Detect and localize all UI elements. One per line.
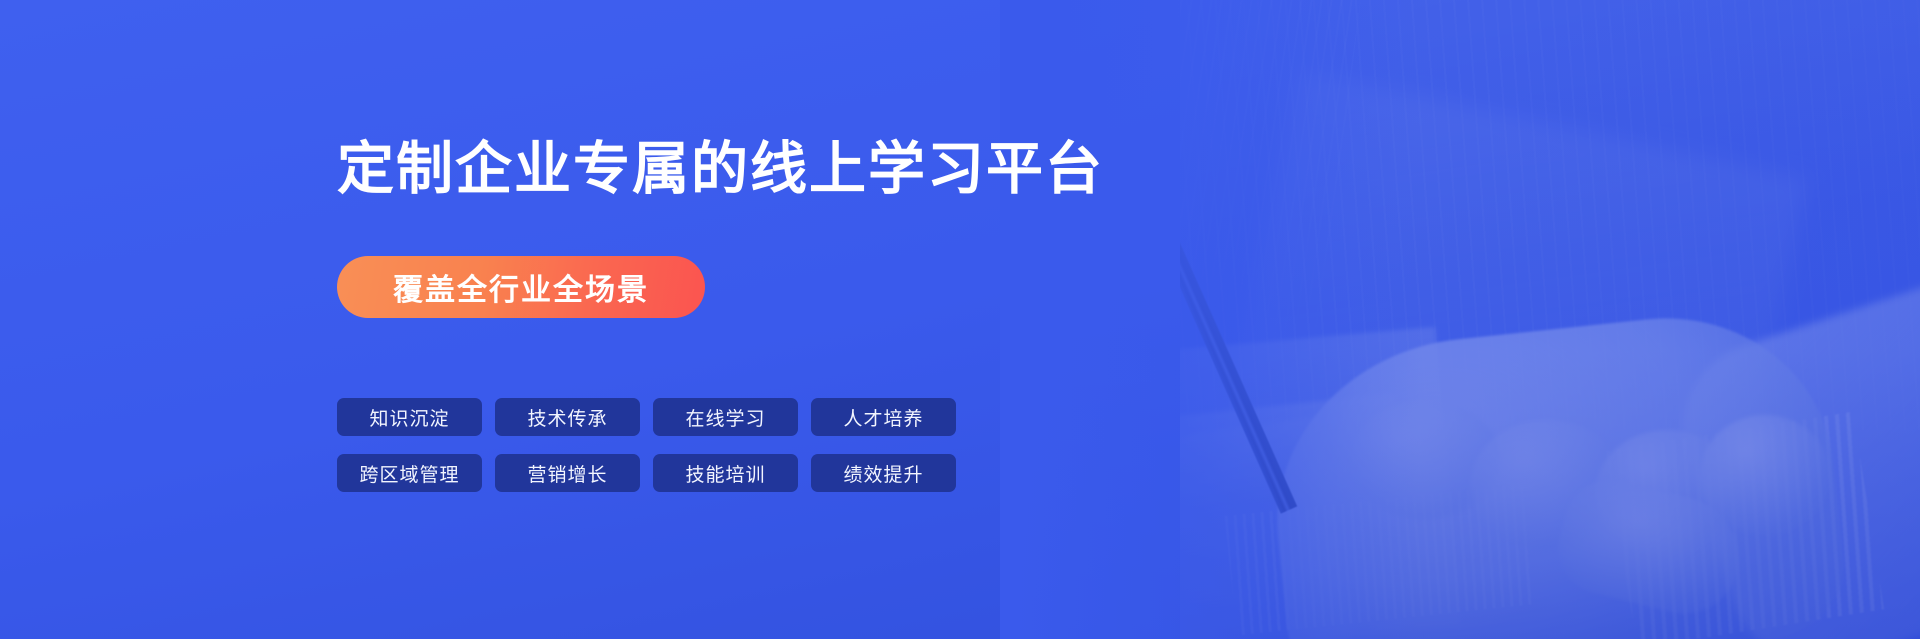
coverage-badge[interactable]: 覆盖全行业全场景 xyxy=(337,256,705,318)
promo-banner: 定制企业专属的线上学习平台 覆盖全行业全场景 知识沉淀 技术传承 在线学习 人才… xyxy=(0,0,1920,639)
tag-list: 知识沉淀 技术传承 在线学习 人才培养 跨区域管理 营销增长 技能培训 绩效提升 xyxy=(337,398,956,492)
tag-chip-talent-development[interactable]: 人才培养 xyxy=(811,398,956,436)
tag-chip-skill-training[interactable]: 技能培训 xyxy=(653,454,798,492)
tag-chip-online-learning[interactable]: 在线学习 xyxy=(653,398,798,436)
tag-chip-tech-inherit[interactable]: 技术传承 xyxy=(495,398,640,436)
tag-chip-marketing-growth[interactable]: 营销增长 xyxy=(495,454,640,492)
banner-content: 定制企业专属的线上学习平台 覆盖全行业全场景 知识沉淀 技术传承 在线学习 人才… xyxy=(337,0,1337,639)
page-title: 定制企业专属的线上学习平台 xyxy=(337,138,1104,201)
tag-chip-cross-region-management[interactable]: 跨区域管理 xyxy=(337,454,482,492)
tag-chip-knowledge[interactable]: 知识沉淀 xyxy=(337,398,482,436)
tag-chip-performance-improvement[interactable]: 绩效提升 xyxy=(811,454,956,492)
